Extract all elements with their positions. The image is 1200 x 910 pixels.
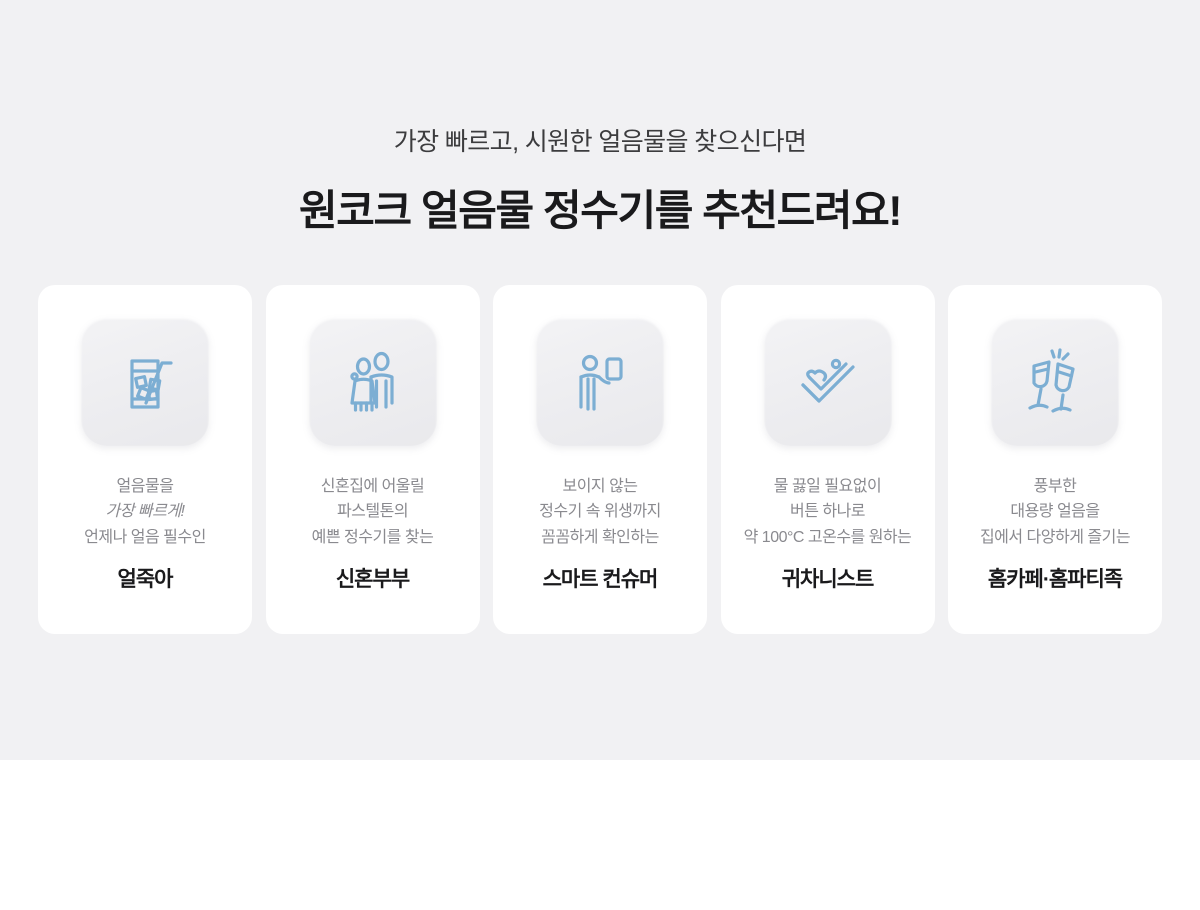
persona-line: 풍부한 xyxy=(980,474,1130,499)
persona-description: 신혼집에 어울릴 파스텔톤의 예쁜 정수기를 찾는 xyxy=(312,474,434,550)
icon-tile xyxy=(81,318,209,446)
hand-tap-check-icon xyxy=(791,345,865,419)
persona-line: 보이지 않는 xyxy=(539,474,661,499)
persona-description: 풍부한 대용량 얼음을 집에서 다양하게 즐기는 xyxy=(980,474,1130,550)
persona-line: 정수기 속 위생까지 xyxy=(539,499,661,524)
persona-line: 가장 빠르게! xyxy=(84,499,206,524)
bottom-white-strip xyxy=(0,760,1200,910)
persona-description: 물 끓일 필요없이 버튼 하나로 약 100°C 고온수를 원하는 xyxy=(744,474,912,550)
persona-title: 스마트 컨슈머 xyxy=(543,563,658,593)
persona-card[interactable]: 얼음물을 가장 빠르게! 언제나 얼음 필수인 얼죽아 xyxy=(38,285,252,634)
persona-card[interactable]: 풍부한 대용량 얼음을 집에서 다양하게 즐기는 홈카페·홈파티족 xyxy=(948,285,1162,634)
icon-tile xyxy=(764,318,892,446)
persona-line: 꼼꼼하게 확인하는 xyxy=(539,525,661,550)
persona-title: 홈카페·홈파티족 xyxy=(988,563,1122,593)
persona-line: 대용량 얼음을 xyxy=(980,499,1130,524)
persona-line: 물 끓일 필요없이 xyxy=(744,474,912,499)
icon-tile xyxy=(309,318,437,446)
persona-line: 파스텔톤의 xyxy=(312,499,434,524)
persona-line: 얼음물을 xyxy=(84,474,206,499)
persona-line: 예쁜 정수기를 찾는 xyxy=(312,525,434,550)
persona-card[interactable]: 물 끓일 필요없이 버튼 하나로 약 100°C 고온수를 원하는 귀차니스트 xyxy=(721,285,935,634)
persona-title: 얼죽아 xyxy=(118,563,173,593)
persona-line: 언제나 얼음 필수인 xyxy=(84,525,206,550)
iced-drink-glass-icon xyxy=(108,345,182,419)
persona-line: 약 100°C 고온수를 원하는 xyxy=(744,525,912,550)
persona-description: 보이지 않는 정수기 속 위생까지 꼼꼼하게 확인하는 xyxy=(539,474,661,550)
persona-card-row: 얼음물을 가장 빠르게! 언제나 얼음 필수인 얼죽아 xyxy=(38,285,1162,634)
couple-icon xyxy=(336,345,410,419)
persona-title: 신혼부부 xyxy=(336,563,409,593)
icon-tile xyxy=(536,318,664,446)
persona-card[interactable]: 보이지 않는 정수기 속 위생까지 꼼꼼하게 확인하는 스마트 컨슈머 xyxy=(493,285,707,634)
heading-block: 가장 빠르고, 시원한 얼음물을 찾으신다면 원코크 얼음물 정수기를 추천드려… xyxy=(0,0,1200,237)
icon-tile xyxy=(991,318,1119,446)
persona-title: 귀차니스트 xyxy=(782,563,874,593)
champagne-toast-icon xyxy=(1018,345,1092,419)
landing-page: 가장 빠르고, 시원한 얼음물을 찾으신다면 원코크 얼음물 정수기를 추천드려… xyxy=(0,0,1200,910)
persona-line: 집에서 다양하게 즐기는 xyxy=(980,525,1130,550)
persona-line: 신혼집에 어울릴 xyxy=(312,474,434,499)
persona-description: 얼음물을 가장 빠르게! 언제나 얼음 필수인 xyxy=(84,474,206,550)
person-with-tablet-icon xyxy=(563,345,637,419)
persona-line: 버튼 하나로 xyxy=(744,499,912,524)
persona-card[interactable]: 신혼집에 어울릴 파스텔톤의 예쁜 정수기를 찾는 신혼부부 xyxy=(266,285,480,634)
hero-headline: 원코크 얼음물 정수기를 추천드려요! xyxy=(0,159,1200,238)
hero-eyebrow: 가장 빠르고, 시원한 얼음물을 찾으신다면 xyxy=(0,0,1200,159)
